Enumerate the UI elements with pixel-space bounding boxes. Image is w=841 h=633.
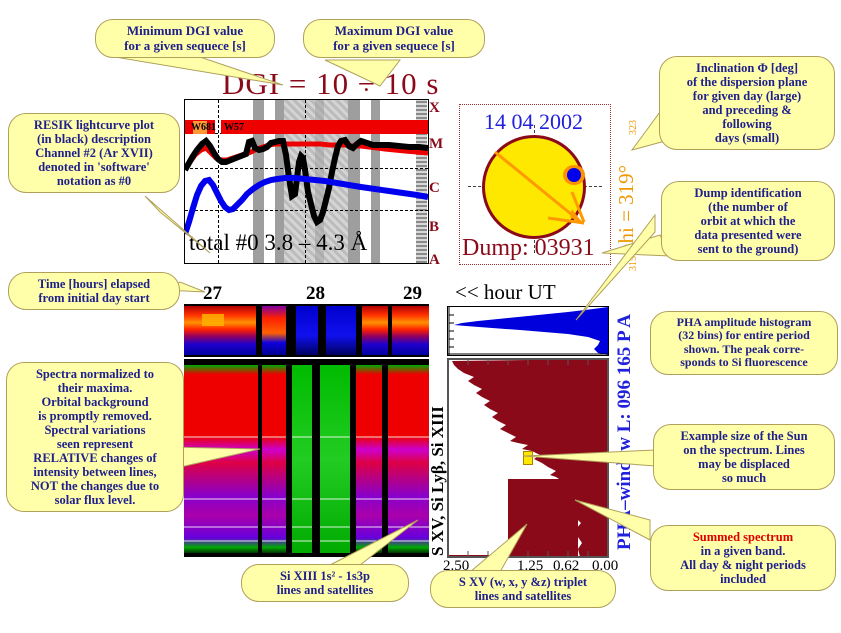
sun-disk-panel: 14 04 2002 Dump: 03931 <box>459 104 611 265</box>
pha-window-label: PHA–window L: 096 165 P A <box>614 314 636 550</box>
callout-line: Maximum DGI value <box>311 24 477 39</box>
callout-line: so much <box>661 471 827 485</box>
callout-line: for given day (large) <box>667 89 827 103</box>
goes-class-m: M <box>429 136 443 153</box>
callout-line: in a given band. <box>658 544 828 558</box>
callout-s-xv: S XV (w, x, y &z) triplet lines and sate… <box>430 570 616 608</box>
callout-line: (32 bins) for entire period <box>658 329 830 342</box>
spectrogram-overview-canvas <box>184 304 429 357</box>
callout-line: Dump identification <box>669 186 827 200</box>
callout-summed-spectrum: Summed spectrum in a given band. All day… <box>650 525 836 591</box>
callout-line: orbit at which the <box>669 214 827 228</box>
callout-line: PHA amplitude histogram <box>658 316 830 329</box>
callout-line: data presented were <box>669 228 827 242</box>
callout-line: Inclination Φ [deg] <box>667 61 827 75</box>
observation-date: 14 04 2002 <box>484 109 583 135</box>
callout-line: Summed spectrum <box>658 530 828 544</box>
callout-line: denoted in 'software' <box>16 160 172 174</box>
callout-resik-lightcurve: RESIK lightcurve plot (in black) descrip… <box>8 113 180 193</box>
callout-line: included <box>658 572 828 586</box>
flare-label-1: W681 <box>191 122 216 133</box>
spectrogram-y-axis-label: S XV, Si Lyβ, Si XIII <box>428 406 448 556</box>
phi-inclination-label: phi = 319° <box>614 165 639 254</box>
callout-si-xiii: Si XIII 1s² - 1s3p lines and satellites <box>241 564 409 602</box>
callout-line: S XV (w, x, y &z) triplet <box>438 575 608 589</box>
callout-line: All day & night periods <box>658 558 828 572</box>
summed-spectrum-shoulder <box>508 479 578 557</box>
pha-histogram <box>447 306 609 356</box>
callout-line: intensity between lines, <box>14 465 176 479</box>
spectrogram-overview <box>184 304 429 357</box>
time-tick-28: 28 <box>306 283 325 305</box>
callout-min-dgi: Minimum DGI value for a given sequece [s… <box>95 19 275 58</box>
callout-line: and preceding & <box>667 103 827 117</box>
sun-size-example-marker <box>523 451 533 465</box>
callout-line: RESIK lightcurve plot <box>16 118 172 132</box>
callout-line: their maxima. <box>14 381 176 395</box>
callout-line: (in black) description <box>16 132 172 146</box>
callout-pha-histogram: PHA amplitude histogram (32 bins) for en… <box>650 311 838 375</box>
callout-line: seen represent <box>14 437 176 451</box>
callout-dump-identification: Dump identification (the number of orbit… <box>661 181 835 261</box>
callout-line: shown. The peak corre- <box>658 343 830 356</box>
callout-line: (the number of <box>669 200 827 214</box>
pha-histogram-fill <box>454 307 608 355</box>
goes-class-x: X <box>429 100 440 117</box>
goes-class-b: B <box>429 219 439 236</box>
callout-line: is promptly removed. <box>14 409 176 423</box>
summed-spectrum-panel <box>447 358 609 558</box>
dump-identifier: Dump: 03931 <box>462 235 595 262</box>
callout-line: Spectral variations <box>14 423 176 437</box>
callout-line: Orbital background <box>14 395 176 409</box>
spectrogram-main <box>184 359 429 557</box>
callout-inclination: Inclination Φ [deg] of the dispersion pl… <box>659 56 835 150</box>
goes-class-a: A <box>429 252 440 269</box>
callout-line: Example size of the Sun <box>661 429 827 443</box>
callout-line: Channel #2 (Ar XVII) <box>16 146 172 160</box>
callout-line: from initial day start <box>16 291 172 305</box>
callout-line: of the dispersion plane <box>667 75 827 89</box>
flare-label-2: W57 <box>224 122 244 133</box>
spectrogram-main-canvas <box>184 359 429 557</box>
callout-line: for a given sequece [s] <box>311 39 477 54</box>
dgi-title: DGI = 10 ÷ 10 s <box>222 66 439 102</box>
callout-max-dgi: Maximum DGI value for a given sequece [s… <box>303 19 485 58</box>
callout-line: lines and satellites <box>249 583 401 597</box>
lightcurve-panel: W681 W57 total #0 3.8 – 4.3 Å <box>184 99 429 264</box>
lightcurve-caption: total #0 3.8 – 4.3 Å <box>189 230 367 256</box>
phi-following-day: 315 <box>628 256 639 271</box>
callout-line: Time [hours] elapsed <box>16 277 172 291</box>
hour-ut-label: << hour UT <box>455 280 556 305</box>
callout-line: may be displaced <box>661 457 827 471</box>
callout-line: lines and satellites <box>438 589 608 603</box>
pha-histogram-canvas <box>448 307 608 355</box>
callout-line: sponds to Si fluorescence <box>658 356 830 369</box>
callout-line: for a given sequece [s] <box>103 39 267 54</box>
callout-line: sent to the ground) <box>669 242 827 256</box>
time-tick-29: 29 <box>403 283 422 305</box>
callout-line: notation as #0 <box>16 174 172 188</box>
callout-line: on the spectrum. Lines <box>661 443 827 457</box>
time-tick-27: 27 <box>203 283 222 305</box>
goes-class-c: C <box>429 180 440 197</box>
callout-line: solar flux level. <box>14 493 176 507</box>
phi-preceding-day: 323 <box>628 120 639 135</box>
callout-line: days (small) <box>667 131 827 145</box>
callout-line: NOT the changes due to <box>14 479 176 493</box>
callout-line: Minimum DGI value <box>103 24 267 39</box>
callout-sun-size: Example size of the Sun on the spectrum.… <box>653 424 835 490</box>
callout-line: Spectra normalized to <box>14 367 176 381</box>
callout-line: Si XIII 1s² - 1s3p <box>249 569 401 583</box>
callout-line: following <box>667 117 827 131</box>
callout-time-hours: Time [hours] elapsed from initial day st… <box>8 272 180 310</box>
resik-summary-figure: DGI = 10 ÷ 10 s W681 W57 <box>0 0 841 633</box>
callout-line: RELATIVE changes of <box>14 451 176 465</box>
callout-spectra-normalized: Spectra normalized to their maxima. Orbi… <box>6 362 184 512</box>
